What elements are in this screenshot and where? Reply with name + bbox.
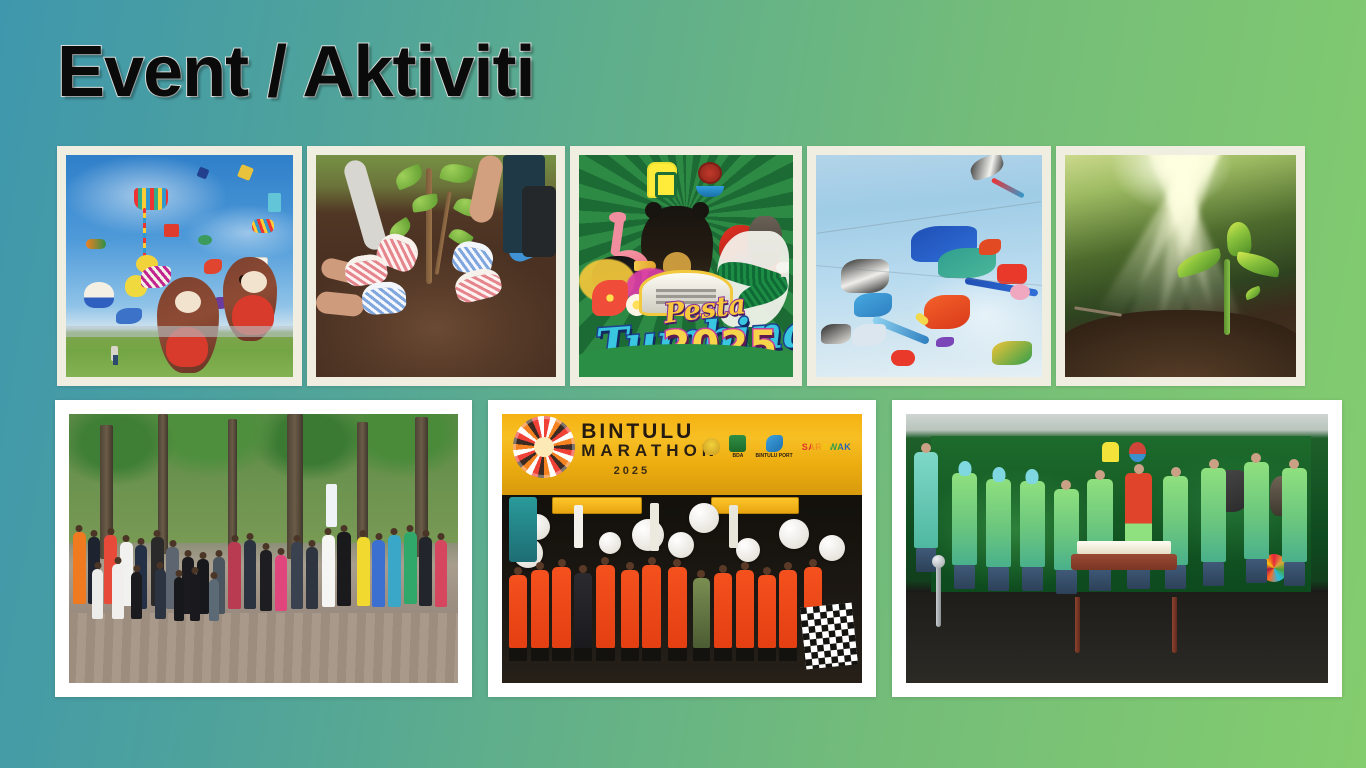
kite-icon [967, 155, 1006, 182]
vip-person [1020, 481, 1045, 567]
person-silhouette [113, 355, 118, 365]
backdrop-panel [509, 497, 537, 562]
vip-person [986, 479, 1011, 568]
kite-icon [979, 239, 1001, 255]
photo-frame-seedling[interactable] [1056, 146, 1305, 386]
photo-bintulu-marathon: BINTULU MARATHON 2025 BDA BINTULU PORT [502, 414, 862, 683]
department-globe-logo-icon [695, 162, 725, 200]
kite-icon [86, 239, 106, 249]
kite-icon [198, 235, 212, 245]
sponsor-bda: BDA [729, 435, 746, 459]
state-crest-logo-icon [647, 162, 677, 198]
kite-tail [991, 177, 1025, 198]
balloon-icon [689, 503, 719, 533]
photo-kites-sky [816, 155, 1042, 377]
poster-pesta-tumbina: Pesta Tumbina 2025 [579, 155, 793, 377]
kite-icon [237, 164, 254, 181]
photo-frame-tree-planting[interactable] [307, 146, 565, 386]
photo-frame-group-photo[interactable] [55, 400, 472, 697]
event-flag [574, 505, 583, 548]
vip-person [914, 452, 938, 549]
gantry-sign [711, 497, 799, 514]
event-flag [729, 505, 738, 548]
sponsor-logos: BDA BINTULU PORT SARAWAK [703, 435, 851, 459]
horizon-line [66, 326, 293, 337]
poster-logos [647, 162, 725, 200]
checkered-flag [800, 602, 858, 669]
photo-group [69, 414, 458, 683]
kite-icon [821, 324, 851, 344]
banner-year: 2025 [614, 465, 650, 477]
bear-kite-icon [84, 282, 114, 308]
kite-icon [852, 324, 886, 346]
kite-icon [196, 167, 209, 180]
marathon-banner: BINTULU MARATHON 2025 BDA BINTULU PORT [502, 414, 862, 495]
photo-frame-cake-ceremony[interactable] [892, 400, 1342, 697]
glove-icon [361, 280, 407, 315]
kite-icon [204, 259, 222, 274]
crowd [69, 500, 458, 624]
vip-person [1201, 468, 1226, 562]
kite-icon [268, 193, 281, 212]
vip-person [1282, 468, 1307, 562]
state-crest-logo-icon [1102, 442, 1119, 462]
sunburst-logo-icon [513, 416, 575, 478]
vip-person [1244, 462, 1269, 559]
table-leg [1172, 597, 1177, 653]
balloon-icon [668, 532, 694, 558]
sponsor-bintulu-port: BINTULU PORT [755, 435, 792, 459]
balloon-icon [599, 532, 621, 554]
vip-person [952, 473, 977, 564]
stage-floor [906, 592, 1328, 683]
photo-tree-planting [316, 155, 556, 377]
page-title: Event / Aktiviti [57, 36, 534, 108]
green-splash [579, 344, 793, 377]
department-logo-icon [1129, 442, 1146, 462]
kite-icon [992, 341, 1032, 365]
photo-kite-festival [66, 155, 293, 377]
balloon-icon [779, 519, 809, 549]
balloon-icon [736, 538, 760, 562]
kite-icon [1010, 284, 1030, 300]
sponsor-sarawak: SARAWAK [802, 442, 852, 452]
photo-frame-kite-festival[interactable] [57, 146, 302, 386]
kite-icon [854, 293, 892, 317]
stanchion-post [936, 565, 941, 627]
photo-frame-kites-sky[interactable] [807, 146, 1051, 386]
banner-line2: MARATHON [581, 441, 719, 461]
bag [522, 186, 556, 257]
soil-mound [1065, 310, 1296, 377]
balloon-icon [819, 535, 845, 561]
kite-icon [252, 219, 274, 233]
cake-table [1071, 554, 1177, 570]
kite-icon [891, 350, 915, 366]
gantry-sign [552, 497, 642, 514]
table-leg [1075, 597, 1080, 653]
event-flag [650, 503, 659, 551]
sprout-leaf-icon [1235, 251, 1282, 277]
kite-icon [116, 308, 142, 324]
photo-cake-ceremony [906, 414, 1328, 683]
balloon-icon [632, 519, 664, 551]
dinosaur-kite-icon [924, 295, 970, 329]
sponsor-sarawak-crest [703, 438, 720, 456]
photo-seedling [1065, 155, 1296, 377]
sprout-leaf-icon [1244, 286, 1262, 300]
kite-tail [143, 208, 146, 256]
gallery-row-2: BINTULU MARATHON 2025 BDA BINTULU PORT [55, 400, 1342, 697]
kite-icon [141, 266, 171, 288]
photo-frame-pesta-poster[interactable]: Pesta Tumbina 2025 [570, 146, 802, 386]
sprout-stem [1224, 259, 1230, 334]
kite-icon [134, 188, 168, 210]
kite-icon [164, 224, 179, 237]
kite-icon [841, 259, 889, 293]
photo-frame-bintulu-marathon[interactable]: BINTULU MARATHON 2025 BDA BINTULU PORT [488, 400, 876, 697]
kite-icon [936, 337, 954, 347]
gallery-row-1: Pesta Tumbina 2025 [57, 146, 1305, 386]
sapling-stem [426, 168, 432, 283]
poster-title-block: Pesta Tumbina 2025 [579, 268, 793, 370]
